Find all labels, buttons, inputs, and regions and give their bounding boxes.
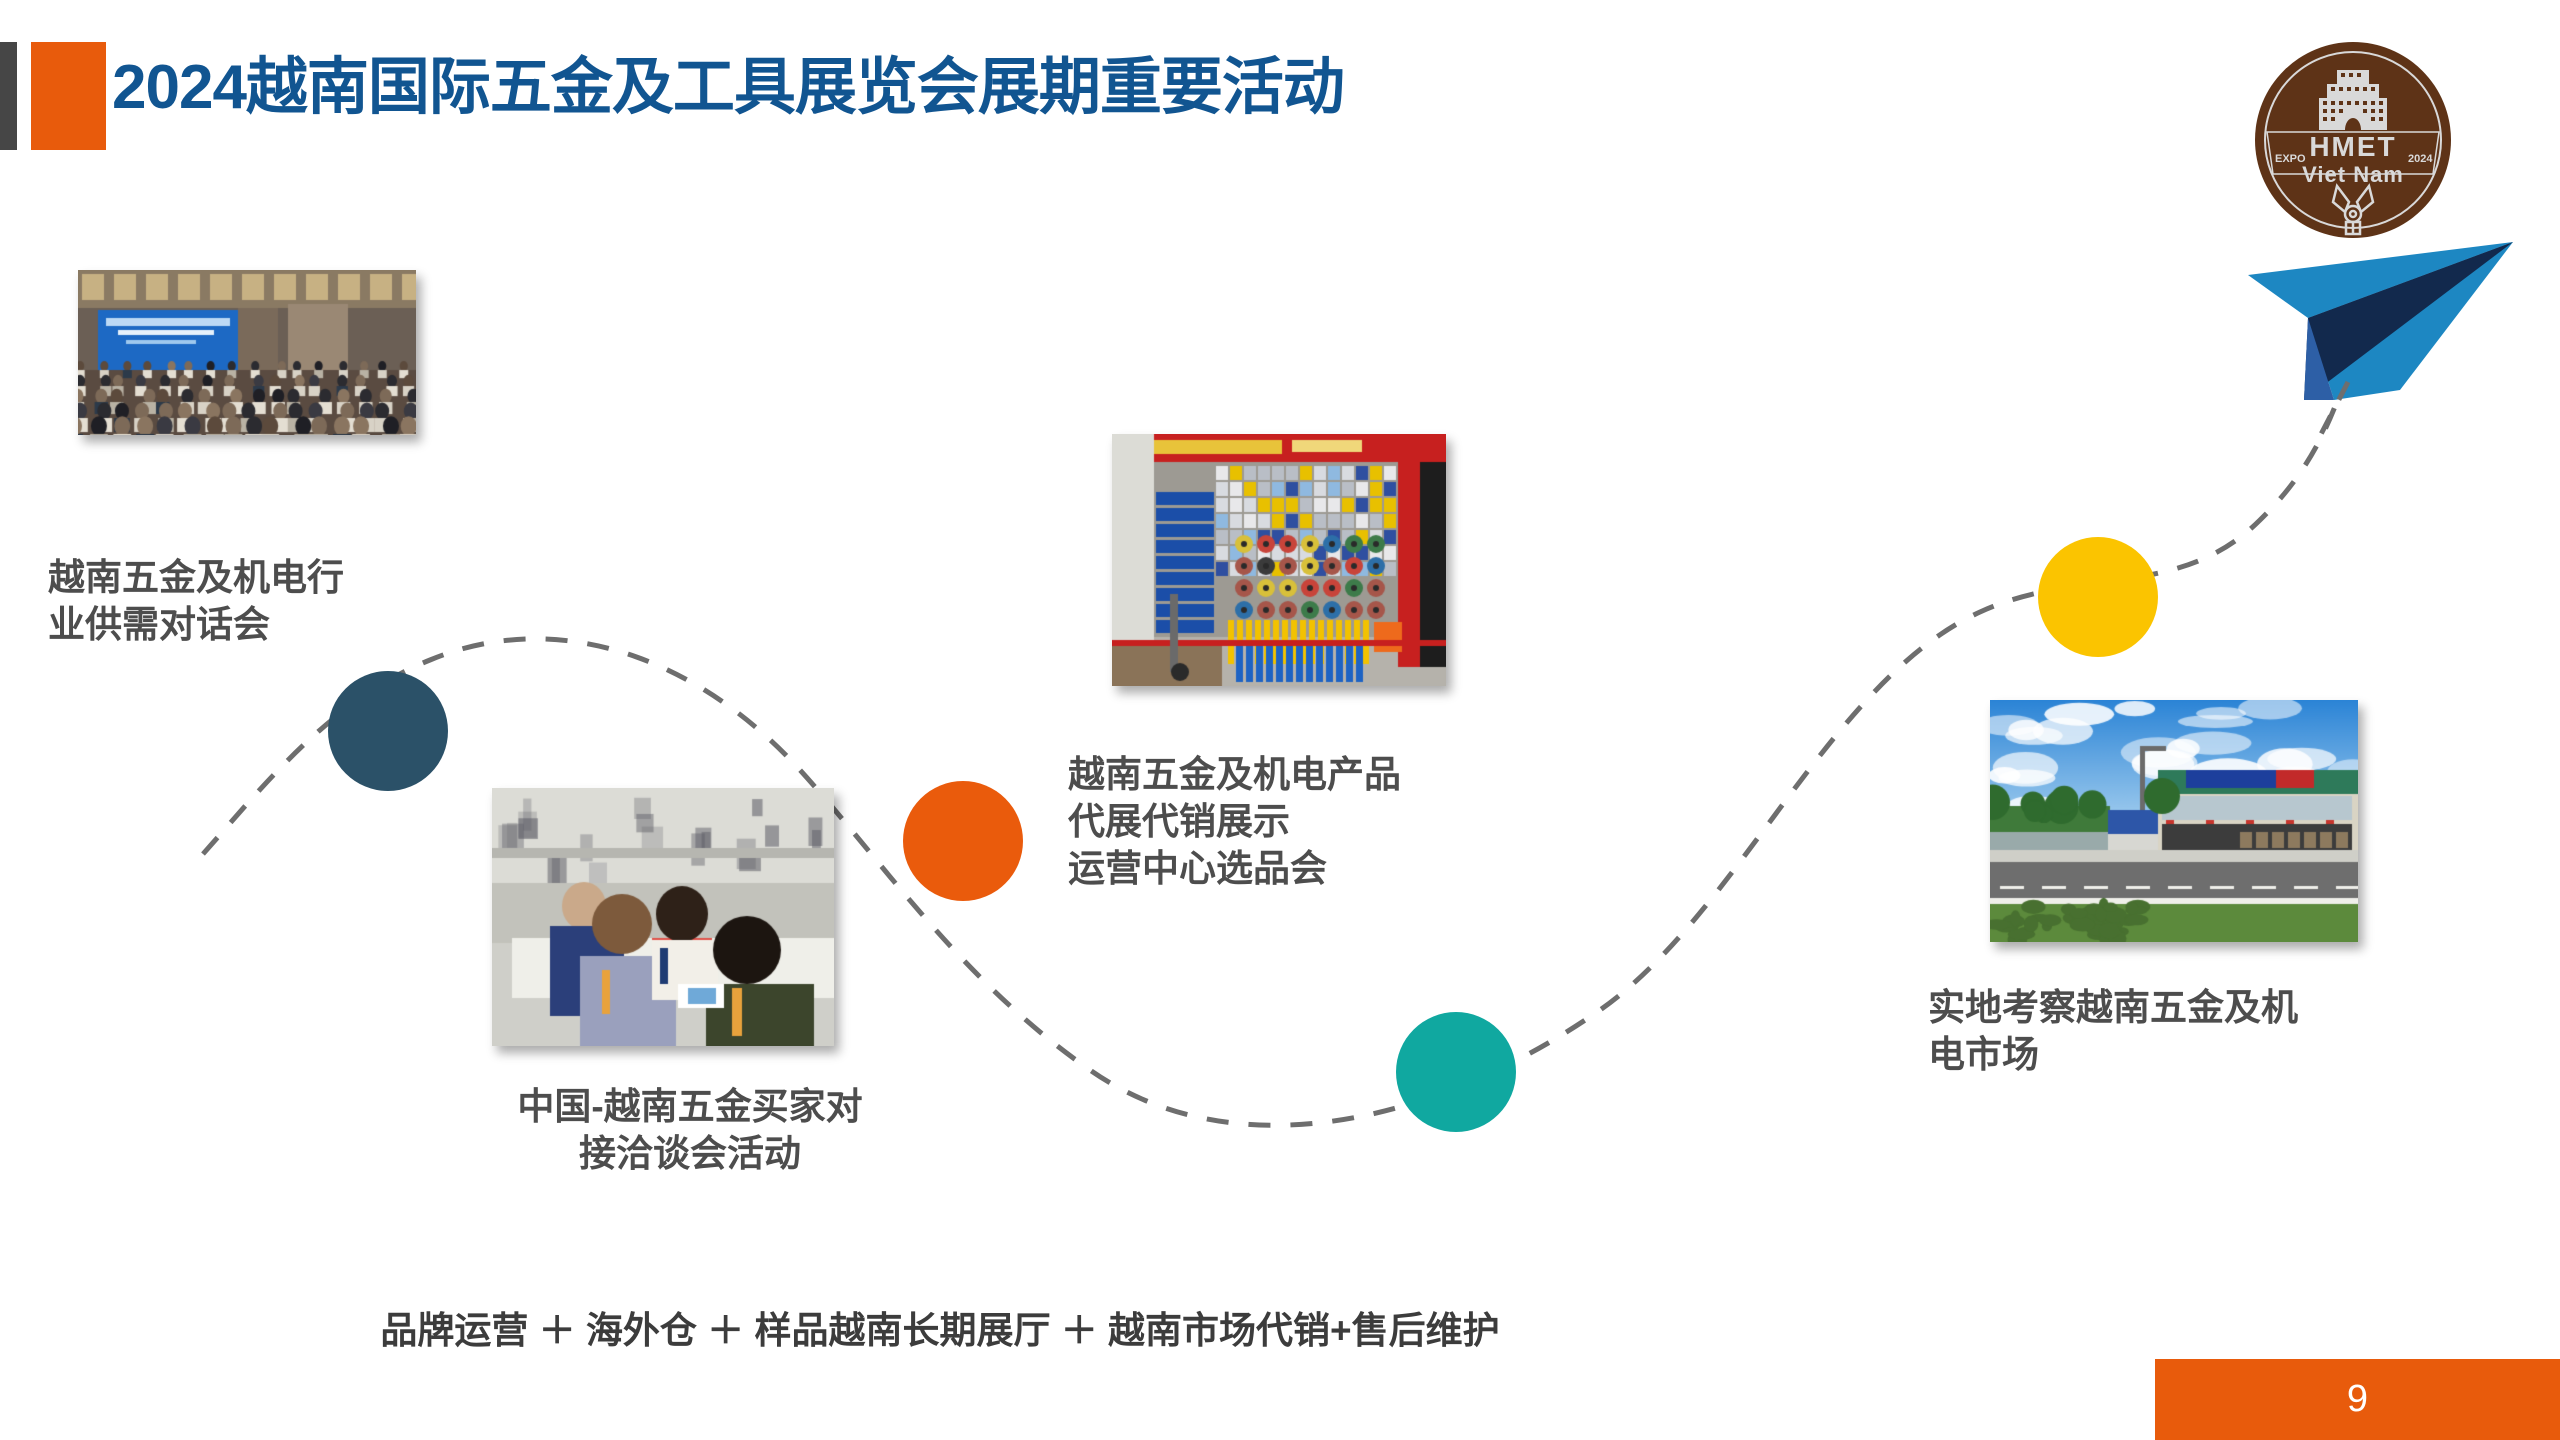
slide-canvas: 2024越南国际五金及工具展览会展期重要活动	[0, 0, 2560, 1440]
caption-node-2: 中国-越南五金买家对 接洽谈会活动	[440, 1084, 940, 1178]
page-number: 9	[2347, 1378, 2368, 1421]
caption-node-1: 越南五金及机电行 业供需对话会	[48, 555, 508, 649]
caption-node-3: 越南五金及机电产品 代展代销展示 运营中心选品会	[1068, 752, 1588, 893]
logo-left-text: EXPO	[2275, 153, 2306, 165]
milestone-circle-4[interactable]	[2038, 537, 2158, 657]
footer-service-chain-text: 品牌运营 ＋ 海外仓 ＋ 样品越南长期展厅 ＋ 越南市场代销+售后维护	[0, 1300, 1880, 1354]
photo-conference-hall	[78, 270, 416, 435]
title-accent-bar-orange	[31, 42, 106, 150]
caption-node-4: 实地考察越南五金及机 电市场	[1928, 985, 2458, 1079]
title-accent-bar-gray	[0, 42, 17, 150]
logo-main-text: HMET	[2309, 131, 2396, 162]
photo-buyer-matchmaking	[492, 788, 834, 1046]
milestone-circle-1[interactable]	[328, 671, 448, 791]
logo-sub-text: Viet Nam	[2302, 162, 2404, 187]
page-title: 2024越南国际五金及工具展览会展期重要活动	[112, 52, 1344, 123]
milestone-circle-3[interactable]	[1396, 1012, 1516, 1132]
milestone-circle-2[interactable]	[903, 781, 1023, 901]
photo-hardware-store	[1112, 434, 1446, 686]
paper-plane-icon	[2248, 200, 2560, 440]
page-number-badge: 9	[2155, 1359, 2560, 1440]
paper-plane-svg	[2248, 200, 2560, 440]
logo-right-text: 2024	[2408, 153, 2433, 165]
photo-market-building	[1990, 700, 2358, 942]
